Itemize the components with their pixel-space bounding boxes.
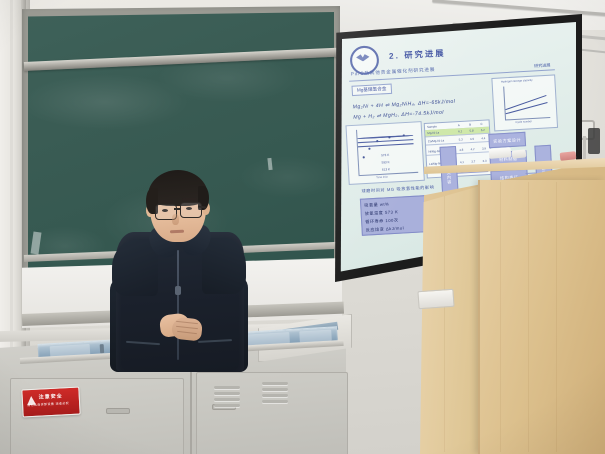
table-cell-value: 4.9 [470, 137, 474, 141]
podium-left-panel [420, 186, 480, 454]
presenting-student [110, 166, 250, 366]
chart-right-xlabel: Cycle number [515, 120, 532, 124]
vent-slot-icon [214, 404, 240, 407]
slide-chart-right: Hydrogen storage capacity Cycle number [491, 74, 558, 131]
chart-left-x-axis [359, 172, 419, 176]
vent-slot-icon [262, 394, 288, 397]
wall-junction-box-icon [588, 128, 600, 154]
chart-left-xlabel: Time /min [376, 176, 388, 180]
chart-right-series-2 [506, 102, 548, 114]
slide-section-label: Mg基储氢合金 [351, 84, 391, 97]
console-seam [190, 372, 192, 454]
flow-connector [526, 172, 536, 173]
wood-grain [556, 182, 557, 452]
vent-slot-icon [214, 398, 240, 401]
glasses-bridge-icon [174, 208, 181, 210]
slide-caption: 球磨时间对 MG 吸放氢性能的影响 [361, 184, 434, 194]
podium-item-white-2 [512, 149, 527, 158]
vent-slot-icon [214, 392, 240, 395]
table-cell-label: Mg-Ni-La [427, 130, 439, 135]
table-cell-value: 3.7 [471, 159, 475, 163]
zipper-pull-icon [175, 286, 181, 295]
slide-corner-tag: 研究进展 [534, 62, 551, 69]
panel-knob-icon[interactable] [100, 344, 105, 353]
slide-equation-2: Mg + H₂ ⇌ MgH₂, ΔH=-74.5kJ/mol [353, 110, 444, 121]
chart-left-point [403, 134, 405, 136]
table-cell-value: 4.1 [460, 160, 464, 164]
classroom-photo: 2. 研究进展 Pd/C及其他贵金属催化剂研究进展 研究进展 Mg基储氢合金 M… [0, 0, 605, 454]
table-cell-value: 3.3 [482, 159, 486, 163]
conclusion-line: 循环寿命 100次 [365, 217, 399, 225]
right-shoulder [202, 238, 246, 294]
sticker-title: 注意安全 [39, 392, 63, 400]
chart-right-y-axis [503, 87, 506, 120]
vent-slot-icon [262, 382, 288, 385]
door-handle-left-icon[interactable] [106, 408, 130, 414]
table-cell-value: 3.9 [482, 146, 486, 150]
table-header-cell: Sample [427, 124, 437, 129]
chart-left-point [376, 140, 378, 142]
chart-left-legend-1: 573 K [381, 153, 389, 158]
chart-left-series-2 [358, 139, 414, 143]
nose [172, 214, 179, 225]
chart-right-title: Hydrogen storage capacity [501, 79, 533, 84]
table-cell-value: 5.2 [481, 128, 485, 132]
flow-box-experiment-design: 实验方案设计 [488, 132, 526, 148]
chart-left-y-axis [356, 130, 359, 175]
table-cell-value: 4.4 [481, 136, 485, 140]
chart-left-legend-3: 613 K [382, 167, 390, 172]
mouth [170, 230, 184, 233]
table-header-cell: A [458, 123, 460, 127]
chart-left-series-1 [357, 135, 413, 139]
chart-left-legend-2: 593 K [381, 160, 389, 165]
table-cell-value: 4.8 [459, 148, 463, 152]
vent-slot-icon [262, 388, 288, 391]
chart-left-point [368, 148, 370, 150]
vent-slot-icon [214, 386, 240, 389]
podium-front-edge [478, 180, 480, 454]
table-cell-label: Ca/Mg-Ni-La [428, 138, 445, 143]
table-cell-value: 4.2 [470, 147, 474, 151]
conclusion-line: 吸氢量 wt% [364, 201, 389, 209]
glasses-lens-right-icon [180, 202, 202, 218]
wood-grain [444, 196, 445, 452]
sticker-subtitle: 请勿私自拆卸设备 违者必究 [27, 401, 69, 407]
table-cell-value: 5.3 [459, 137, 463, 141]
conclusion-line: 反应焓变 ΔkJ/mol [366, 225, 405, 233]
chart-left-point [388, 136, 390, 138]
table-row: Ni/Mg-Ni-La 4.8 4.2 3.9 [426, 145, 490, 156]
warning-sticker: 注意安全 请勿私自拆卸设备 违者必究 [21, 387, 80, 418]
table-cell-value: 5.8 [469, 128, 473, 132]
wood-grain [500, 182, 501, 452]
slide-title: 2. 研究进展 [389, 48, 446, 62]
vent-slot-icon [262, 400, 288, 403]
wooden-lectern [478, 180, 605, 454]
table-header-cell: B [469, 122, 471, 126]
table-cell-value: 6.1 [458, 129, 462, 133]
podium-item-red [560, 151, 577, 161]
right-eyebrow [182, 198, 197, 202]
podium-item-white [489, 147, 512, 159]
chart-left-series-3 [358, 143, 414, 147]
slide-chart-left: 573 K 593 K 613 K Time /min [345, 121, 424, 185]
conclusion-line: 放氢温度 573 K [365, 209, 399, 217]
left-shoulder [112, 240, 158, 296]
slide-conclusion-box: 吸氢量 wt% 放氢温度 573 K 循环寿命 100次 反应焓变 ΔkJ/mo… [360, 195, 432, 236]
podium-side-bracket [417, 289, 454, 309]
wood-grain [528, 182, 529, 452]
chart-left-point [363, 156, 365, 158]
table-header-cell: C [480, 122, 482, 126]
